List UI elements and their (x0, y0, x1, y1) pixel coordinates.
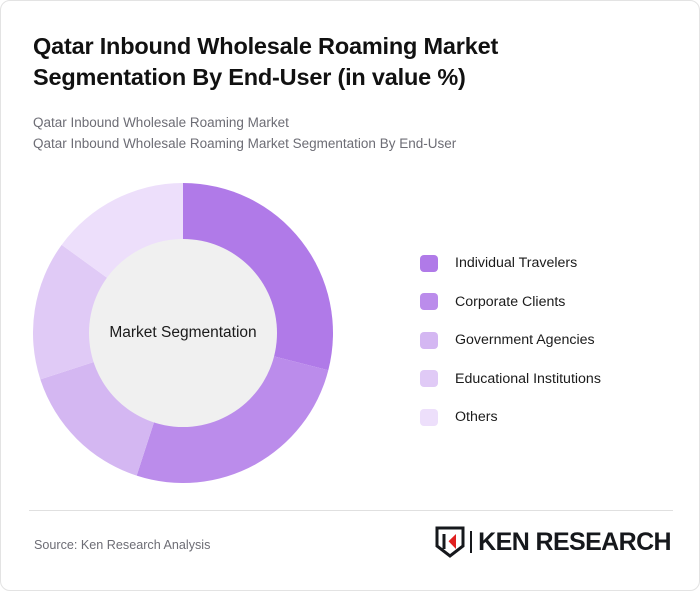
donut-svg (33, 183, 333, 483)
subtitle-line-1: Qatar Inbound Wholesale Roaming Market (33, 113, 633, 134)
legend-item[interactable]: Individual Travelers (420, 244, 682, 283)
legend-item[interactable]: Corporate Clients (420, 283, 682, 322)
legend-swatch (420, 293, 438, 310)
legend-item[interactable]: Educational Institutions (420, 360, 682, 399)
legend-item[interactable]: Others (420, 398, 682, 437)
page-title: Qatar Inbound Wholesale Roaming Market S… (33, 31, 593, 93)
legend-label: Educational Institutions (455, 371, 601, 387)
legend-label: Corporate Clients (455, 294, 565, 310)
footer-divider (29, 510, 673, 511)
chart-legend: Individual TravelersCorporate ClientsGov… (420, 244, 682, 437)
donut-hole (89, 239, 277, 427)
chart-area: Market Segmentation (1, 161, 401, 506)
legend-swatch (420, 409, 438, 426)
legend-label: Others (455, 409, 498, 425)
legend-label: Individual Travelers (455, 255, 577, 271)
ken-research-logo: KEN RESEARCH (435, 525, 671, 559)
legend-swatch (420, 255, 438, 272)
logo-divider (470, 531, 472, 553)
logo-wordmark: KEN RESEARCH (478, 530, 671, 555)
legend-swatch (420, 370, 438, 387)
subtitle-line-2: Qatar Inbound Wholesale Roaming Market S… (33, 134, 633, 155)
legend-item[interactable]: Government Agencies (420, 321, 682, 360)
legend-label: Government Agencies (455, 332, 595, 348)
donut-chart: Market Segmentation (33, 183, 333, 483)
legend-swatch (420, 332, 438, 349)
chart-card: Qatar Inbound Wholesale Roaming Market S… (0, 0, 700, 591)
subtitle-block: Qatar Inbound Wholesale Roaming Market Q… (33, 113, 633, 154)
source-note: Source: Ken Research Analysis (34, 538, 210, 552)
ken-research-logo-mark-icon (435, 526, 465, 558)
